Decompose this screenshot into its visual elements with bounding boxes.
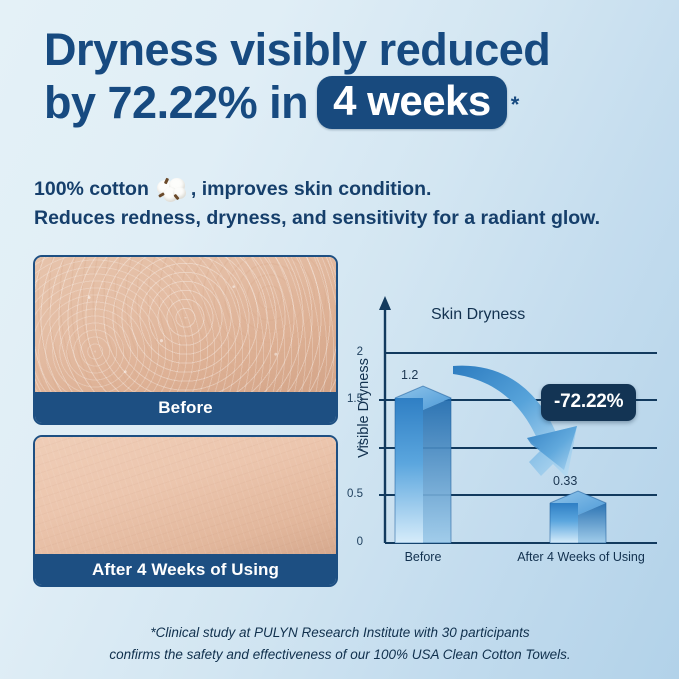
chart-canvas bbox=[345, 288, 665, 580]
chart-title: Skin Dryness bbox=[431, 306, 525, 324]
footnote: *Clinical study at PULYN Research Instit… bbox=[60, 622, 620, 666]
subcopy-line-2: Reduces redness, dryness, and sensitivit… bbox=[34, 204, 654, 233]
cotton-boll-icon bbox=[155, 174, 189, 204]
reduction-badge: -72.22% bbox=[541, 384, 636, 421]
after-skin-photo bbox=[35, 437, 336, 554]
asterisk-marker: * bbox=[511, 75, 519, 130]
skin-dryness-chart: Skin Dryness Visible Dryness bbox=[345, 288, 665, 580]
chart-category-after: After 4 Weeks of Using bbox=[511, 550, 651, 564]
headline-line-1: Dryness visibly reduced bbox=[44, 24, 644, 75]
subcopy-line-1-post: , improves skin condition. bbox=[191, 175, 432, 204]
before-photo-card: Before bbox=[33, 255, 338, 425]
ytick-1-5: 1.5 bbox=[347, 393, 363, 405]
bar-value-after: 0.33 bbox=[553, 474, 577, 488]
chart-y-axis bbox=[379, 296, 391, 543]
headline: Dryness visibly reduced by 72.22% in 4 w… bbox=[44, 24, 644, 130]
bar-before bbox=[395, 386, 451, 543]
chart-y-axis-label: Visible Dryness bbox=[356, 343, 372, 473]
ytick-0: 0 bbox=[347, 536, 363, 548]
after-card-label: After 4 Weeks of Using bbox=[35, 554, 336, 585]
footnote-line-1: *Clinical study at PULYN Research Instit… bbox=[60, 622, 620, 644]
subcopy: 100% cotton , improves skin condition. R… bbox=[34, 174, 654, 233]
chart-category-before: Before bbox=[387, 550, 459, 564]
footnote-line-2: confirms the safety and effectiveness of… bbox=[60, 644, 620, 666]
ytick-0-5: 0.5 bbox=[347, 488, 363, 500]
subcopy-line-1: 100% cotton , improves skin condition. bbox=[34, 174, 654, 204]
headline-line-2: by 72.22% in 4 weeks * bbox=[44, 75, 644, 130]
bar-value-before: 1.2 bbox=[401, 368, 418, 382]
ytick-2: 2 bbox=[347, 346, 363, 358]
after-photo-card: After 4 Weeks of Using bbox=[33, 435, 338, 587]
before-skin-photo bbox=[35, 257, 336, 392]
decrease-arrow-icon bbox=[453, 366, 577, 478]
promo-banner: Dryness visibly reduced by 72.22% in 4 w… bbox=[0, 0, 679, 679]
weeks-badge: 4 weeks bbox=[317, 76, 507, 129]
before-card-label: Before bbox=[35, 392, 336, 423]
bar-after bbox=[550, 491, 606, 543]
ytick-1: 1 bbox=[347, 441, 363, 453]
subcopy-line-1-pre: 100% cotton bbox=[34, 175, 149, 204]
headline-line-2-text: by 72.22% in bbox=[44, 77, 308, 128]
